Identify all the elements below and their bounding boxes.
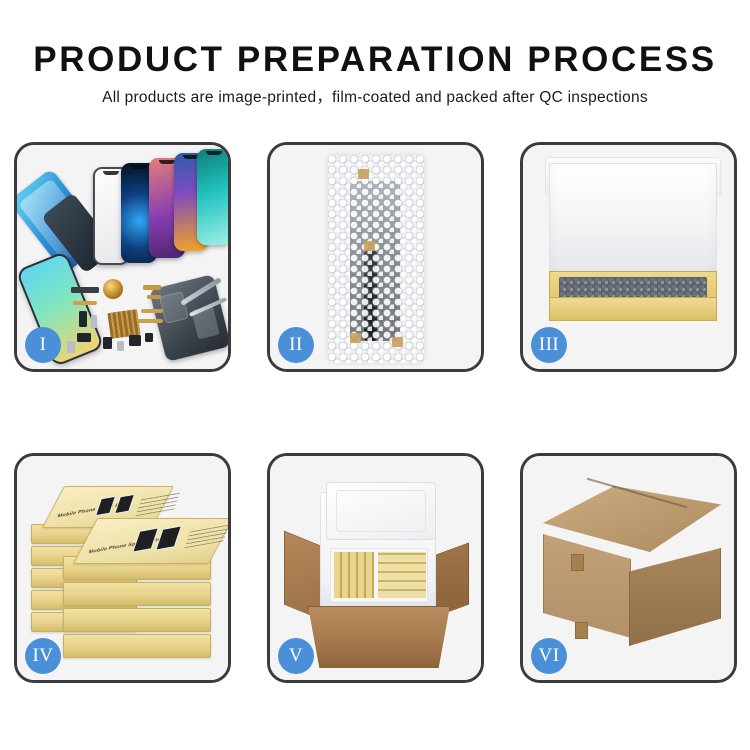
packed-boxes-row-icon	[378, 552, 426, 598]
step-badge-1: I	[25, 327, 61, 363]
step-panel-6[interactable]: VI	[520, 453, 737, 683]
carton-tape-icon	[575, 622, 588, 639]
box-tray-front-icon	[549, 297, 717, 321]
carton-tape-icon	[571, 554, 584, 571]
tape-piece-icon	[364, 241, 375, 251]
carton-front-icon	[308, 606, 450, 668]
step-panel-5[interactable]: V	[267, 453, 484, 683]
flex-cable-icon	[141, 309, 163, 313]
component-chip-icon	[147, 295, 161, 299]
step-panel-2[interactable]: II	[267, 142, 484, 372]
flex-cable-icon	[73, 301, 97, 305]
box-spec-lines	[184, 522, 228, 549]
flex-cable-icon	[137, 319, 163, 323]
step-badge-6: VI	[531, 638, 567, 674]
component-chip-icon	[145, 333, 153, 342]
stacked-box	[63, 634, 211, 658]
styrofoam-lid-icon	[326, 482, 436, 540]
notch-icon	[131, 165, 147, 169]
phone-teal-icon	[197, 149, 228, 245]
bubble-texture	[328, 155, 424, 363]
step-badge-4: IV	[25, 638, 61, 674]
packed-boxes-column-icon	[334, 552, 374, 598]
step-badge-3: III	[531, 327, 567, 363]
component-chip-icon	[67, 341, 75, 353]
component-chip-icon	[91, 315, 97, 328]
stacked-box-lid: Mobile Phone Spare Parts	[73, 518, 228, 564]
step-badge-2: II	[278, 327, 314, 363]
notch-icon	[159, 160, 175, 164]
tape-piece-icon	[350, 333, 361, 343]
notch-icon	[206, 151, 222, 155]
box-thumbnail-icon	[114, 494, 135, 514]
step-badge-5: V	[278, 638, 314, 674]
step-panel-3[interactable]: III	[520, 142, 737, 372]
product-preparation-infographic: PRODUCT PREPARATION PROCESS All products…	[0, 0, 750, 750]
component-chip-icon	[103, 337, 112, 349]
step-panel-4[interactable]: Mobile Phone Spare Parts Mobile Phone Sp…	[14, 453, 231, 683]
header: PRODUCT PREPARATION PROCESS All products…	[0, 40, 750, 108]
step-panel-1[interactable]: I	[14, 142, 231, 372]
tape-piece-icon	[358, 169, 369, 179]
component-chip-icon	[71, 287, 99, 293]
carton-right-face-icon	[629, 548, 721, 646]
stacked-box	[63, 582, 211, 606]
process-steps-grid: I II	[14, 142, 738, 674]
bubble-wrap-bag-icon	[328, 155, 424, 363]
component-chip-icon	[77, 333, 91, 342]
page-subtitle: All products are image-printed，film-coat…	[0, 88, 750, 108]
stacked-box	[63, 608, 211, 632]
component-chip-icon	[79, 311, 87, 327]
box-lid-icon	[549, 163, 717, 283]
box-spec-lines	[135, 490, 181, 517]
component-chip-icon	[129, 335, 141, 346]
box-thumbnail-icon	[155, 525, 182, 550]
speaker-coil-icon	[103, 279, 123, 299]
component-chip-icon	[117, 341, 124, 351]
notch-icon	[103, 171, 119, 175]
tape-piece-icon	[392, 337, 403, 347]
page-title: PRODUCT PREPARATION PROCESS	[0, 40, 750, 80]
component-chip-icon	[143, 285, 161, 290]
